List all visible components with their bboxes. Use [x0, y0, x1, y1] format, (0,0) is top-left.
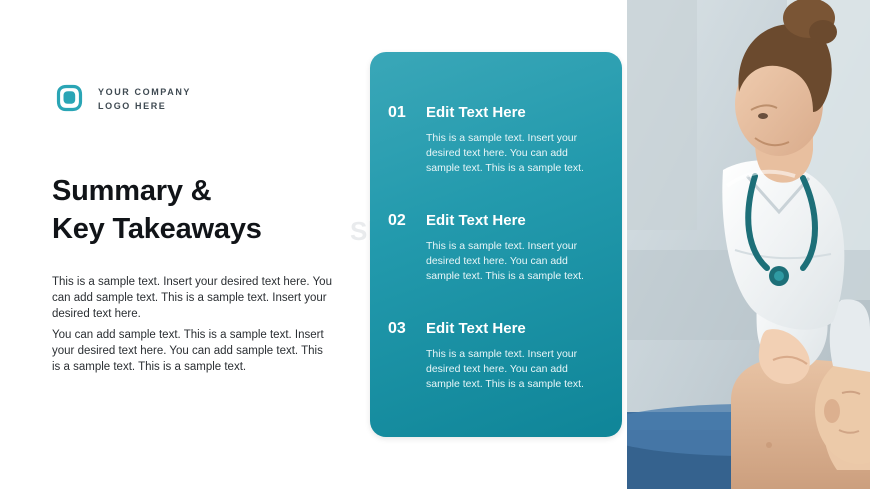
list-item-number: 02: [388, 212, 426, 230]
list-item-heading: 02 Edit Text Here: [388, 212, 604, 230]
photo-nurse-cpr: [627, 0, 870, 489]
company-logo-text: YOUR COMPANY LOGO HERE: [98, 85, 191, 113]
list-item-heading: 01 Edit Text Here: [388, 104, 604, 122]
list-item-body: This is a sample text. Insert your desir…: [426, 131, 604, 176]
page-title-line-1: Summary &: [52, 175, 211, 207]
list-item-title: Edit Text Here: [426, 320, 526, 337]
list-item-number: 03: [388, 320, 426, 338]
list-item-title: Edit Text Here: [426, 104, 526, 121]
list-item-heading: 03 Edit Text Here: [388, 320, 604, 338]
list-item-body: This is a sample text. Insert your desir…: [426, 347, 604, 392]
logo-line-2: LOGO HERE: [98, 101, 166, 111]
page-title: Summary & Key Takeaways: [52, 172, 352, 248]
company-logo: YOUR COMPANY LOGO HERE: [52, 82, 191, 116]
list-item[interactable]: 01 Edit Text Here This is a sample text.…: [388, 104, 604, 176]
body-paragraph-2: You can add sample text. This is a sampl…: [52, 327, 334, 375]
list-item-title: Edit Text Here: [426, 212, 526, 229]
body-paragraph-1: This is a sample text. Insert your desir…: [52, 274, 334, 322]
list-item[interactable]: 03 Edit Text Here This is a sample text.…: [388, 320, 604, 392]
rounded-square-logo-icon: [52, 82, 86, 116]
list-item-body: This is a sample text. Insert your desir…: [426, 239, 604, 284]
left-content-column: YOUR COMPANY LOGO HERE Summary & Key Tak…: [0, 0, 370, 489]
page-title-line-2: Key Takeaways: [52, 213, 262, 245]
key-points-card: 01 Edit Text Here This is a sample text.…: [370, 52, 622, 437]
slide-canvas: YOUR COMPANY LOGO HERE Summary & Key Tak…: [0, 0, 870, 489]
list-item[interactable]: 02 Edit Text Here This is a sample text.…: [388, 212, 604, 284]
list-item-number: 01: [388, 104, 426, 122]
logo-line-1: YOUR COMPANY: [98, 87, 191, 97]
